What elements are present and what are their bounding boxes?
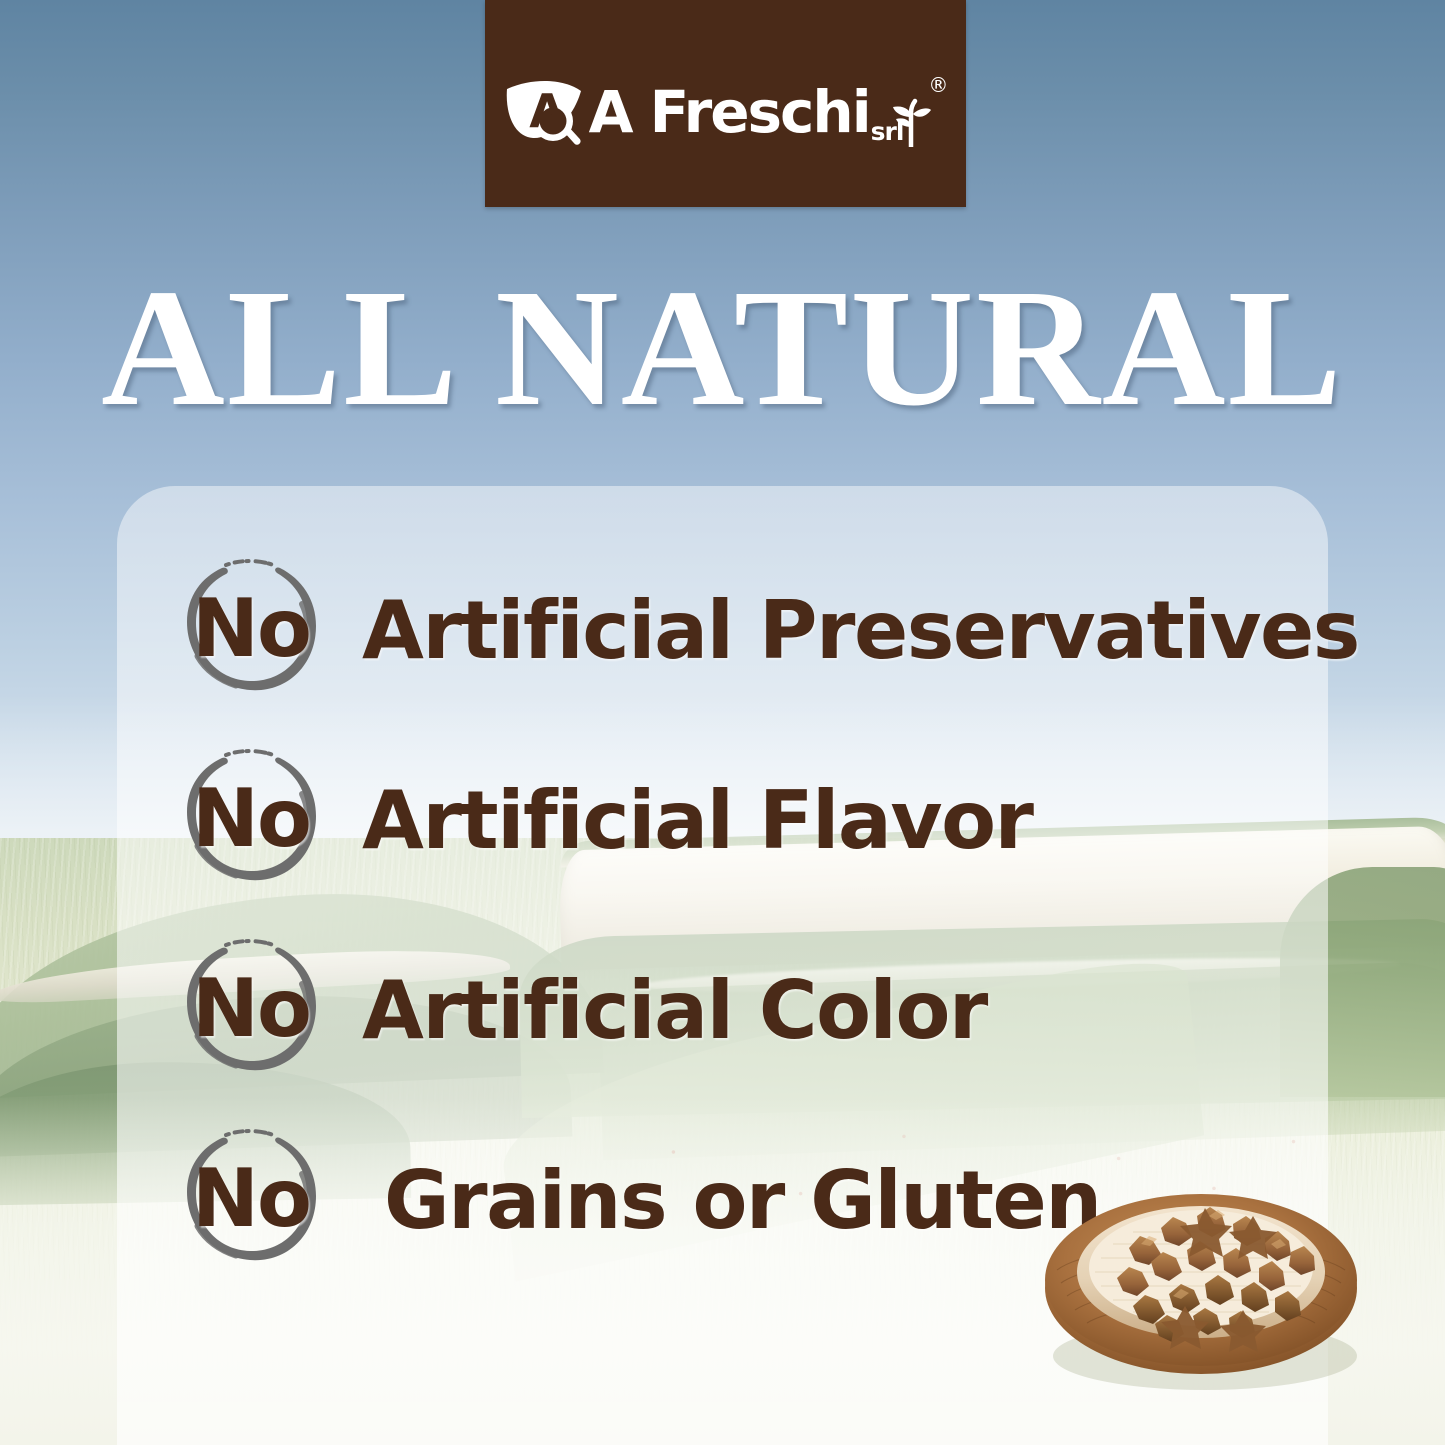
no-badge: No [176, 746, 326, 896]
claim-label: Artificial Preservatives [362, 556, 1359, 706]
no-badge: No [176, 936, 326, 1086]
sprout-icon [892, 95, 932, 147]
claim-label: Grains or Gluten [384, 1126, 1101, 1276]
all-natural-product-banner: A A Freschi srl ® ALL NATURAL [0, 0, 1445, 1445]
no-label: No [192, 969, 310, 1049]
brand-name: A Freschi [589, 83, 870, 141]
no-badge: No [176, 1126, 326, 1276]
list-item: No Artificial Preservatives [176, 556, 1336, 746]
leaf-magnifier-icon: A [503, 75, 595, 149]
no-label: No [192, 1159, 310, 1239]
no-badge: No [176, 556, 326, 706]
brand-logo: A A Freschi srl ® [503, 75, 949, 149]
brand-logo-box[interactable]: A A Freschi srl ® [485, 0, 966, 207]
no-label: No [192, 589, 310, 669]
no-label: No [192, 779, 310, 859]
list-item: No Artificial Color [176, 936, 1336, 1126]
claim-label: Artificial Color [362, 936, 987, 1086]
registered-trademark-mark: ® [928, 73, 948, 97]
list-item: No Artificial Flavor [176, 746, 1336, 936]
page-title: ALL NATURAL [0, 264, 1445, 432]
claim-label: Artificial Flavor [362, 746, 1032, 896]
product-photo-wooden-plate [1009, 1120, 1389, 1410]
